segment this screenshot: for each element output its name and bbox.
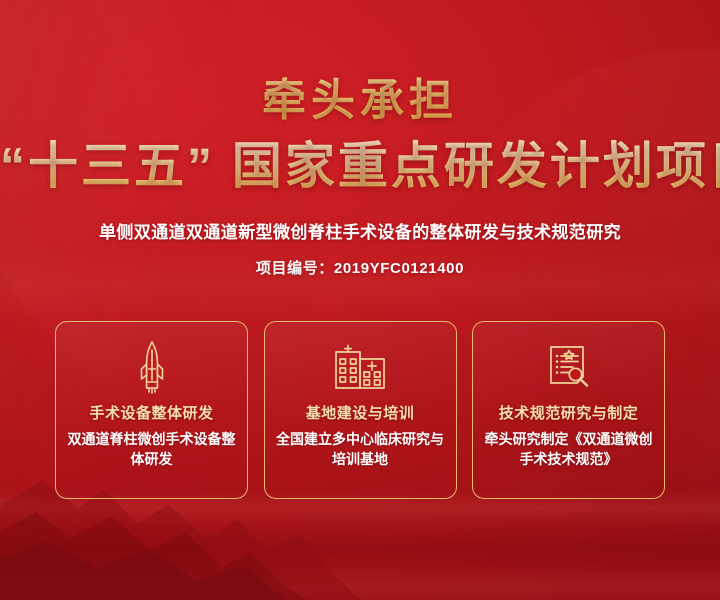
card-description: 全国建立多中心临床研究与培训基地 <box>275 423 445 470</box>
feature-card-tech-standard[interactable]: 技术规范研究与制定 牵头研究制定《双通道微创手术技术规范》 <box>472 321 665 499</box>
poster-banner: 牵头承担 “十三五” 国家重点研发计划项目 单侧双通道双通道新型微创脊柱手术设备… <box>0 0 720 600</box>
card-title: 手术设备整体研发 <box>89 394 213 423</box>
feature-card-list: 手术设备整体研发 双通道脊柱微创手术设备整体研发 <box>55 321 665 499</box>
hospital-building-icon <box>334 344 386 390</box>
card-icon-slot <box>135 340 169 394</box>
page-title-secondary: “十三五” 国家重点研发计划项目 <box>0 125 720 194</box>
card-title: 基地建设与培训 <box>306 394 415 423</box>
project-number: 项目编号：2019YFC0121400 <box>0 243 720 278</box>
card-description: 双通道脊柱微创手术设备整体研发 <box>67 423 237 470</box>
project-subtitle: 单侧双通道双通道新型微创脊柱手术设备的整体研发与技术规范研究 <box>0 194 720 243</box>
feature-card-base-training[interactable]: 基地建设与培训 全国建立多中心临床研究与培训基地 <box>264 321 457 499</box>
card-icon-slot <box>334 340 386 394</box>
page-title-primary: 牵头承担 <box>0 0 720 125</box>
document-magnifier-icon <box>545 343 593 391</box>
feature-card-equipment-rnd[interactable]: 手术设备整体研发 双通道脊柱微创手术设备整体研发 <box>55 321 248 499</box>
rocket-icon <box>135 340 169 394</box>
poster-header: 牵头承担 “十三五” 国家重点研发计划项目 单侧双通道双通道新型微创脊柱手术设备… <box>0 0 720 278</box>
card-title: 技术规范研究与制定 <box>499 394 639 423</box>
card-icon-slot <box>545 340 593 394</box>
card-description: 牵头研究制定《双通道微创手术技术规范》 <box>484 423 654 470</box>
